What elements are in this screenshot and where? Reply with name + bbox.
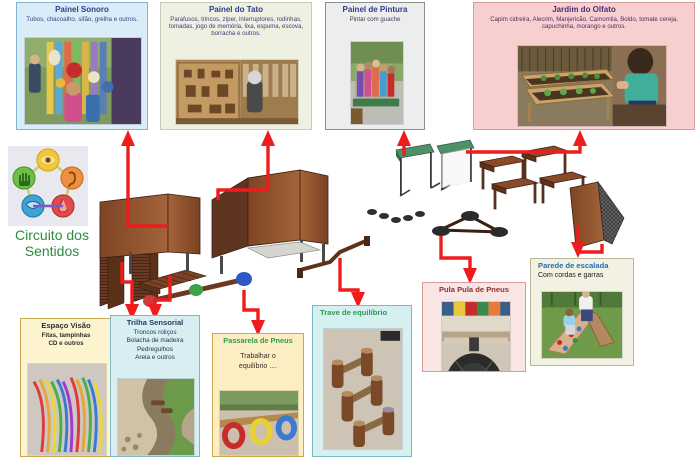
card-subtitle-line2: equilíbrio ....: [217, 363, 299, 371]
photo-passarela-de-pneus: [219, 390, 299, 456]
photo-trave-de-equilibrio: [323, 328, 403, 450]
card-title: Espaço Visão: [25, 322, 107, 331]
card-title: Painel do Tato: [165, 6, 307, 15]
card-subtitle-line3: Pedregulhos: [115, 346, 195, 354]
card-subtitle: Capim cidreira, Alecrim, Manjericão, Cam…: [478, 16, 690, 30]
card-parede-de-escalada[interactable]: Parede de escalada Com cordas e garras: [530, 258, 634, 366]
card-subtitle-line2: CD e outros: [25, 340, 107, 347]
card-passarela-de-pneus[interactable]: Passarela de Pneus Trabalhar o equilíbri…: [212, 333, 304, 457]
circuito-sentidos-logo: [8, 146, 88, 226]
card-title: Passarela de Pneus: [217, 337, 299, 345]
card-subtitle: Tubos, chacoalho, sifão, grelha e outros…: [21, 16, 143, 23]
smell-garden-structure: [480, 146, 586, 209]
card-subtitle: Com cordas e garras: [538, 272, 629, 280]
card-jardim-do-olfato[interactable]: Jardim do Olfato Capim cidreira, Alecrim…: [473, 2, 695, 130]
card-title: Trilha Sensorial: [115, 319, 195, 328]
card-title: Painel Sonoro: [21, 6, 143, 15]
photo-trilha-sensorial: [117, 378, 195, 456]
photo-pula-pula-de-pneus: [441, 301, 511, 372]
card-title: Pula Pula de Pneus: [427, 286, 521, 295]
photo-jardim-do-olfato: [517, 45, 667, 127]
logo-title-line1: Circuito dos: [0, 228, 104, 244]
card-title: Jardim do Olfato: [478, 6, 690, 15]
eye-icon: [37, 149, 59, 171]
card-espaco-visao[interactable]: Espaço Visão Fitas, tampinhas CD e outro…: [20, 318, 112, 457]
card-subtitle-line1: Troncos roliços: [115, 329, 195, 337]
card-trave-de-equilibrio[interactable]: Trave de equilíbrio: [312, 305, 412, 457]
card-trilha-sensorial[interactable]: Trilha Sensorial Troncos roliços Bolacha…: [110, 315, 200, 457]
five-senses-pentagon-icon: [8, 146, 88, 226]
card-painel-do-tato[interactable]: Painel do Tato Parafusos, trincos, zíper…: [160, 2, 312, 130]
balance-beam-structure: [297, 236, 370, 278]
card-subtitle: Pintar com guache: [330, 16, 420, 23]
card-subtitle-line1: Trabalhar o: [217, 353, 299, 361]
card-title: Parede de escalada: [538, 262, 629, 271]
painting-panel-structure: [367, 140, 474, 223]
ear-icon: [61, 167, 83, 189]
circuito-dos-sentidos-diagram: Circuito dos Sentidos Painel Sonoro Tubo…: [0, 0, 700, 457]
photo-painel-sonoro: [24, 37, 142, 125]
logo-title-line2: Sentidos: [0, 244, 104, 260]
photo-painel-do-tato: [175, 59, 299, 125]
card-title: Trave de equilíbrio: [320, 309, 407, 318]
card-painel-sonoro[interactable]: Painel Sonoro Tubos, chacoalho, sifão, g…: [16, 2, 148, 130]
photo-parede-de-escalada: [541, 291, 623, 359]
card-title: Painel de Pintura: [330, 6, 420, 15]
hand-icon: [13, 167, 35, 189]
card-subtitle-line4: Areia e outros: [115, 354, 195, 362]
card-subtitle-line1: Fitas, tampinhas: [25, 332, 107, 339]
photo-painel-de-pintura: [350, 41, 404, 125]
photo-espaco-visao: [27, 363, 107, 456]
card-subtitle: Parafusos, trincos, zíper, interruptores…: [165, 16, 307, 38]
touch-panel-structure: [212, 170, 328, 274]
card-subtitle-line2: Bolacha de madeira: [115, 337, 195, 345]
card-painel-de-pintura[interactable]: Painel de Pintura Pintar com guache: [325, 2, 425, 130]
card-pula-pula-de-pneus[interactable]: Pula Pula de Pneus: [422, 282, 526, 372]
tire-jump-structure: [432, 211, 508, 237]
logo-title: Circuito dos Sentidos: [0, 228, 104, 259]
